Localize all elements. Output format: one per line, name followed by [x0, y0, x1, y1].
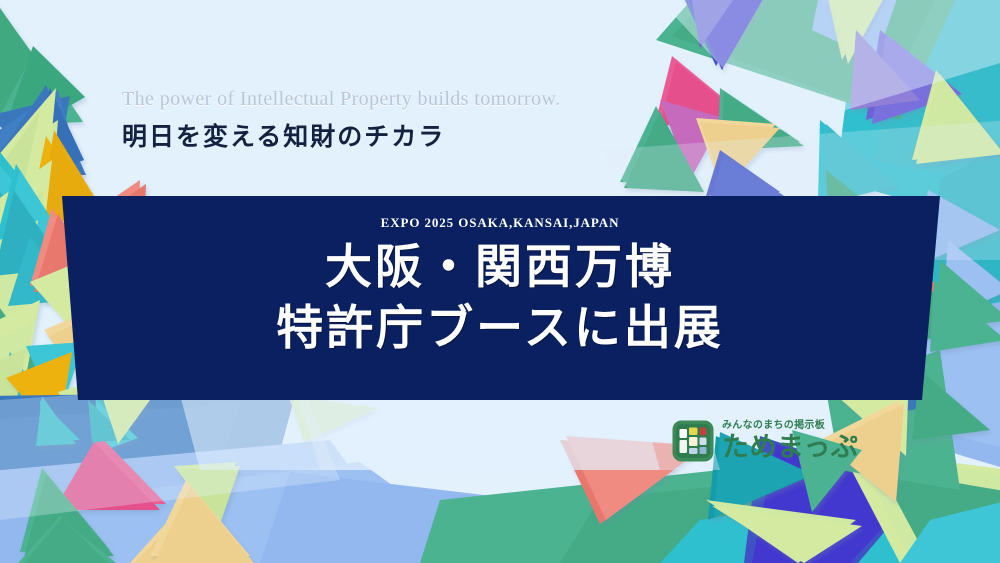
poster-canvas: The power of Intellectual Property build… [0, 0, 1000, 563]
headline-japanese: 明日を変える知財のチカラ [122, 117, 560, 153]
logo-name: ためまっぷ [722, 434, 858, 461]
event-banner: EXPO 2025 OSAKA,KANSAI,JAPAN 大阪・関西万博 特許庁… [0, 196, 1000, 400]
banner-title: 大阪・関西万博 特許庁ブースに出展 [276, 237, 724, 359]
headline-block: The power of Intellectual Property build… [122, 88, 560, 153]
banner-title-line-1: 大阪・関西万博 [276, 237, 724, 298]
logo-wordmark: みんなのまちの掲示板 ためまっぷ [722, 421, 858, 461]
logo-tagline: みんなのまちの掲示板 [722, 421, 858, 431]
tamemap-logo[interactable]: みんなのまちの掲示板 ためまっぷ [672, 420, 858, 462]
banner-text-block: EXPO 2025 OSAKA,KANSAI,JAPAN 大阪・関西万博 特許庁… [0, 196, 1000, 400]
grid-tiles-icon [672, 420, 714, 462]
banner-eyebrow: EXPO 2025 OSAKA,KANSAI,JAPAN [381, 215, 620, 231]
headline-english: The power of Intellectual Property build… [122, 88, 560, 111]
banner-title-line-2: 特許庁ブースに出展 [276, 298, 724, 359]
